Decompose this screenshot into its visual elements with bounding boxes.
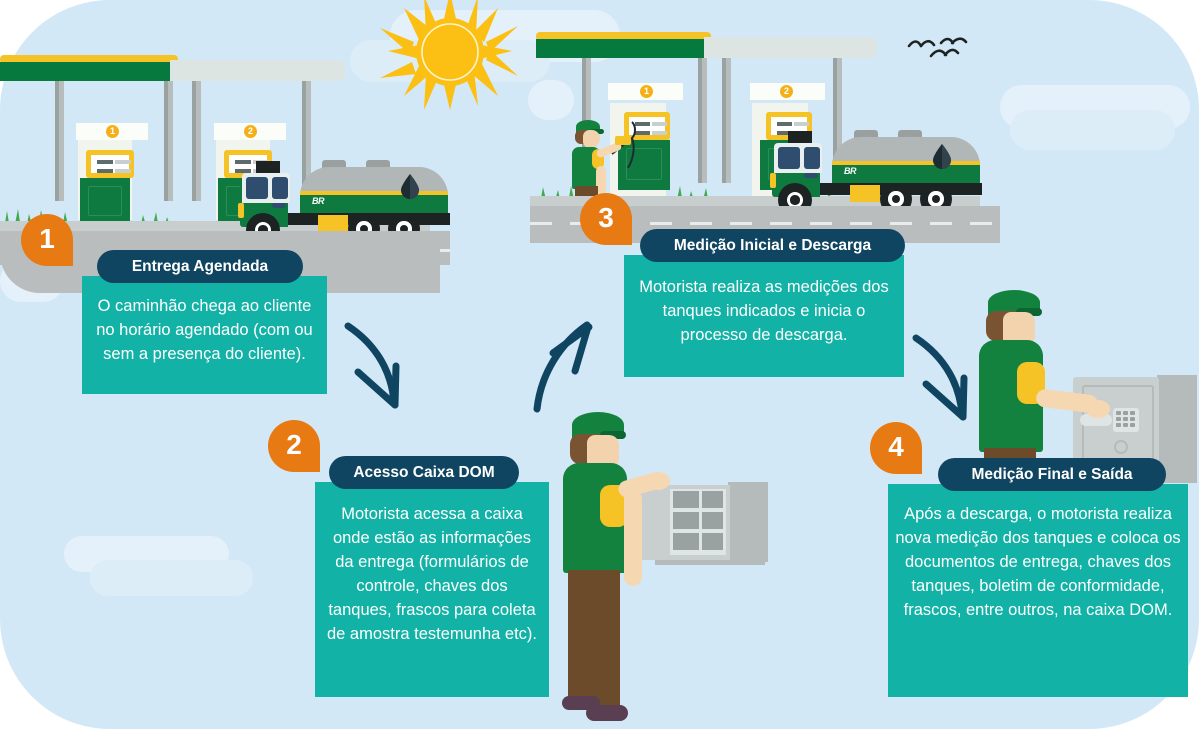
step-2-number-label: 2 bbox=[286, 429, 302, 461]
curved-arrow-icon bbox=[908, 330, 988, 425]
step-card-3: Motorista realiza as medições dos tanque… bbox=[580, 193, 920, 383]
step-2-number[interactable]: 2 bbox=[268, 420, 320, 472]
step-3-number[interactable]: 3 bbox=[580, 193, 632, 245]
step-4-number[interactable]: 4 bbox=[870, 422, 922, 474]
canopy-gray bbox=[704, 37, 877, 58]
step-3-title: Medição Inicial e Descarga bbox=[640, 229, 905, 262]
canopy-green bbox=[0, 62, 172, 81]
step-2-text: Motorista acessa a caixa onde estão as i… bbox=[315, 482, 549, 697]
step-3-text: Motorista realiza as medições dos tanque… bbox=[624, 255, 904, 377]
step-4-title: Medição Final e Saída bbox=[938, 458, 1166, 491]
step-card-2: Motorista acessa a caixa onde estão as i… bbox=[268, 420, 568, 690]
step-card-1: O caminhão chega ao cliente no horário a… bbox=[21, 214, 341, 394]
curved-arrow-icon bbox=[340, 318, 420, 413]
step-card-4: Após a descarga, o motorista realiza nov… bbox=[870, 422, 1190, 692]
step-1-number[interactable]: 1 bbox=[21, 214, 73, 266]
infographic-canvas: 1 2 BR bbox=[0, 0, 1199, 729]
scene-dom-cabinet bbox=[550, 400, 820, 729]
step-4-text: Após a descarga, o motorista realiza nov… bbox=[888, 484, 1188, 697]
step-3-number-label: 3 bbox=[598, 202, 614, 234]
hand bbox=[1086, 400, 1110, 418]
step-1-number-label: 1 bbox=[39, 223, 55, 255]
step-2-title: Acesso Caixa DOM bbox=[329, 456, 519, 489]
cloud-icon bbox=[90, 560, 253, 596]
canopy-gray bbox=[170, 60, 345, 81]
canopy-pillar bbox=[722, 58, 731, 183]
arm bbox=[624, 490, 642, 586]
step-1-title: Entrega Agendada bbox=[97, 250, 303, 283]
pump-number-badge: 1 bbox=[640, 85, 653, 98]
canopy-pillar bbox=[164, 81, 173, 201]
oil-drop-icon bbox=[400, 173, 420, 199]
pump-number-badge: 2 bbox=[780, 85, 793, 98]
nozzle-icon bbox=[615, 136, 631, 145]
canopy-pillar bbox=[698, 58, 707, 183]
pump-display bbox=[86, 150, 134, 178]
pants bbox=[592, 570, 620, 710]
cloud-icon bbox=[1010, 110, 1175, 150]
pants bbox=[568, 570, 594, 705]
pump-number-badge: 1 bbox=[106, 125, 119, 138]
canopy-pillar bbox=[55, 81, 64, 201]
canopy-green bbox=[536, 39, 706, 58]
step-4-number-label: 4 bbox=[888, 431, 904, 463]
pump-number-badge: 2 bbox=[244, 125, 257, 138]
step-1-text: O caminhão chega ao cliente no horário a… bbox=[82, 276, 327, 394]
oil-drop-icon bbox=[932, 143, 952, 169]
shoe bbox=[586, 705, 628, 721]
face bbox=[583, 130, 600, 148]
canopy-pillar bbox=[192, 81, 201, 201]
hand bbox=[646, 472, 670, 490]
